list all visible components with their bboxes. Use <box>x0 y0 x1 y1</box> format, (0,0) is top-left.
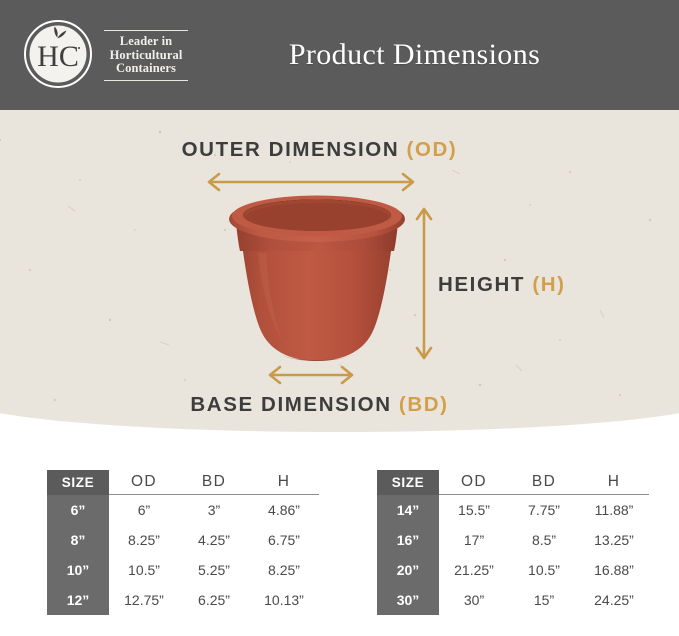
dimension-table-small-sizes: SIZE OD BD H 6” 6” 3” 4.86” 8” 8.25” 4.2… <box>47 470 319 615</box>
cell-od: 12.75” <box>109 585 179 615</box>
tagline-rule-top <box>104 30 188 31</box>
cell-od: 15.5” <box>439 495 509 526</box>
column-header-h: H <box>249 470 319 495</box>
cell-od: 10.5” <box>109 555 179 585</box>
cell-bd: 15” <box>509 585 579 615</box>
cell-bd: 3” <box>179 495 249 526</box>
table-row: 16” 17” 8.5” 13.25” <box>377 525 649 555</box>
height-label: HEIGHT (H) <box>438 273 566 297</box>
base-dimension-label: BASE DIMENSION (BD) <box>0 393 639 417</box>
cell-size: 14” <box>377 495 439 526</box>
cell-od: 8.25” <box>109 525 179 555</box>
outer-dimension-arrow-icon <box>200 172 422 192</box>
table-row: 12” 12.75” 6.25” 10.13” <box>47 585 319 615</box>
dimensions-diagram: OUTER DIMENSION (OD) HEIGHT (H) <box>0 110 679 440</box>
cell-h: 11.88” <box>579 495 649 526</box>
tagline-line-2: Horticultural <box>104 49 188 63</box>
svg-text:HC: HC <box>37 40 79 73</box>
tagline-line-3: Containers <box>104 62 188 76</box>
table-row: 20” 21.25” 10.5” 16.88” <box>377 555 649 585</box>
cell-size: 6” <box>47 495 109 526</box>
tagline-rule-bottom <box>104 80 188 81</box>
height-tag: (H) <box>532 273 565 296</box>
cell-od: 30” <box>439 585 509 615</box>
brand-tagline: Leader in Horticultural Containers <box>104 23 188 85</box>
cell-bd: 6.25” <box>179 585 249 615</box>
outer-dimension-text: OUTER DIMENSION <box>182 138 400 161</box>
page-header: Product Dimensions HC Leader in Horticul… <box>0 0 679 110</box>
brand-lockup: HC Leader in Horticultural Containers <box>22 18 188 90</box>
cell-bd: 10.5” <box>509 555 579 585</box>
cell-size: 30” <box>377 585 439 615</box>
table-row: 30” 30” 15” 24.25” <box>377 585 649 615</box>
column-header-bd: BD <box>509 470 579 495</box>
cell-od: 6” <box>109 495 179 526</box>
height-text: HEIGHT <box>438 273 525 296</box>
base-dimension-text: BASE DIMENSION <box>190 393 391 416</box>
column-header-od: OD <box>109 470 179 495</box>
cell-bd: 7.75” <box>509 495 579 526</box>
table-row: 14” 15.5” 7.75” 11.88” <box>377 495 649 526</box>
height-arrow-icon <box>414 202 434 365</box>
cell-size: 8” <box>47 525 109 555</box>
column-header-size: SIZE <box>47 470 109 495</box>
terracotta-planter-pot-icon <box>222 193 412 373</box>
cell-h: 24.25” <box>579 585 649 615</box>
cell-h: 10.13” <box>249 585 319 615</box>
cell-od: 17” <box>439 525 509 555</box>
tagline-line-1: Leader in <box>104 35 188 49</box>
cell-size: 20” <box>377 555 439 585</box>
base-dimension-tag: (BD) <box>399 393 449 416</box>
table-row: 8” 8.25” 4.25” 6.75” <box>47 525 319 555</box>
dimension-tables: SIZE OD BD H 6” 6” 3” 4.86” 8” 8.25” 4.2… <box>0 470 679 636</box>
cell-bd: 4.25” <box>179 525 249 555</box>
outer-dimension-tag: (OD) <box>407 138 458 161</box>
column-header-h: H <box>579 470 649 495</box>
cell-bd: 5.25” <box>179 555 249 585</box>
outer-dimension-label: OUTER DIMENSION (OD) <box>0 138 639 162</box>
cell-h: 4.86” <box>249 495 319 526</box>
cell-h: 8.25” <box>249 555 319 585</box>
table-row: 10” 10.5” 5.25” 8.25” <box>47 555 319 585</box>
cell-size: 12” <box>47 585 109 615</box>
base-dimension-arrow-icon <box>262 365 360 385</box>
hc-monogram-circle-logo: HC <box>22 18 94 90</box>
dimension-table-large-sizes: SIZE OD BD H 14” 15.5” 7.75” 11.88” 16” … <box>377 470 649 615</box>
cell-h: 16.88” <box>579 555 649 585</box>
cell-size: 16” <box>377 525 439 555</box>
column-header-size: SIZE <box>377 470 439 495</box>
cell-bd: 8.5” <box>509 525 579 555</box>
cell-size: 10” <box>47 555 109 585</box>
cell-h: 13.25” <box>579 525 649 555</box>
column-header-bd: BD <box>179 470 249 495</box>
table-header-row: SIZE OD BD H <box>47 470 319 495</box>
cell-od: 21.25” <box>439 555 509 585</box>
cell-h: 6.75” <box>249 525 319 555</box>
table-row: 6” 6” 3” 4.86” <box>47 495 319 526</box>
table-header-row: SIZE OD BD H <box>377 470 649 495</box>
column-header-od: OD <box>439 470 509 495</box>
